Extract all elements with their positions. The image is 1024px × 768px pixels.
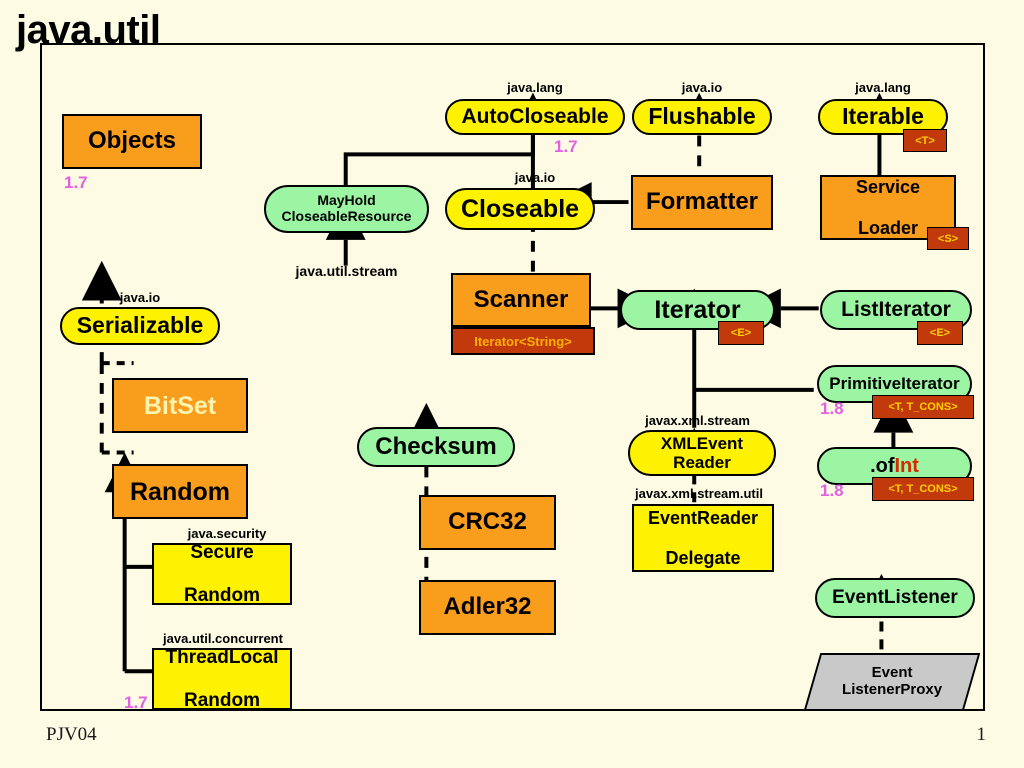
node-ofint-suffix: Int — [895, 455, 919, 477]
version-ofint: 1.8 — [820, 481, 844, 501]
node-scanner[interactable]: Scanner — [451, 273, 591, 327]
generic-badge-iterator: <E> — [718, 321, 764, 345]
package-label-iterable: java.lang — [818, 80, 948, 95]
node-eventreaderdelegate-line2: Delegate — [665, 548, 740, 568]
node-securerandom-line1: Secure — [190, 542, 253, 563]
package-label-autocloseable: java.lang — [445, 80, 625, 95]
node-eventlistenerproxy-line2: ListenerProxy — [842, 681, 942, 698]
node-threadlocalrandom[interactable]: ThreadLocal Random — [152, 648, 292, 710]
package-label-serializable: java.io — [60, 290, 220, 305]
node-mayhold-closeableresource[interactable]: MayHold CloseableResource — [264, 185, 429, 233]
node-crc32[interactable]: CRC32 — [419, 495, 556, 550]
generic-badge-serviceloader: <S> — [927, 227, 969, 250]
generic-badge-listiterator: <E> — [917, 321, 963, 345]
generic-badge-iterable: <T> — [903, 129, 947, 152]
node-bitset[interactable]: BitSet — [112, 378, 248, 433]
node-eventlistener[interactable]: EventListener — [815, 578, 975, 618]
package-label-flushable: java.io — [632, 80, 772, 95]
node-closeable[interactable]: Closeable — [445, 188, 595, 230]
node-threadlocalrandom-line1: ThreadLocal — [166, 647, 279, 668]
node-ofint-prefix: .of — [870, 455, 894, 477]
node-bitset-label: BitSet — [144, 392, 216, 420]
package-label-closeable: java.io — [445, 170, 625, 185]
version-primitiveiterator: 1.8 — [820, 399, 844, 419]
node-serviceloader-line2: Loader — [858, 218, 918, 238]
node-mayhold-line2: CloseableResource — [282, 208, 412, 224]
node-checksum[interactable]: Checksum — [357, 427, 515, 467]
generic-badge-ofint: <T, T_CONS> — [872, 477, 974, 501]
footer-course-code: PJV04 — [46, 724, 97, 746]
package-label-xmleventreader: javax.xml.stream — [620, 413, 775, 428]
package-label-securerandom: java.security — [152, 526, 302, 541]
node-eventreaderdelegate-line1: EventReader — [648, 508, 758, 528]
node-mayhold-line1: MayHold — [317, 192, 375, 208]
generic-badge-primitiveiterator: <T, T_CONS> — [872, 395, 974, 419]
package-label-eventreaderdelegate: javax.xml.stream.util — [610, 486, 788, 501]
node-flushable[interactable]: Flushable — [632, 99, 772, 135]
node-serializable[interactable]: Serializable — [60, 307, 220, 345]
version-threadlocalrandom: 1.7 — [124, 693, 148, 713]
node-objects[interactable]: Objects — [62, 114, 202, 169]
node-xmleventreader-line2: Reader — [673, 453, 731, 472]
page-title: java.util — [16, 8, 160, 53]
node-threadlocalrandom-line2: Random — [184, 690, 260, 711]
footer-page-number: 1 — [977, 724, 987, 746]
node-adler32[interactable]: Adler32 — [419, 580, 556, 635]
node-scanner-generic-bar: Iterator<String> — [451, 327, 595, 355]
node-securerandom[interactable]: Secure Random — [152, 543, 292, 605]
node-autocloseable[interactable]: AutoCloseable — [445, 99, 625, 135]
node-securerandom-line2: Random — [184, 585, 260, 606]
node-formatter[interactable]: Formatter — [631, 175, 773, 230]
node-xmleventreader[interactable]: XMLEvent Reader — [628, 430, 776, 476]
node-serviceloader-line1: Service — [856, 177, 920, 197]
node-eventlistenerproxy[interactable]: Event ListenerProxy — [804, 653, 981, 711]
diagram-canvas: Objects 1.7 MayHold CloseableResource ja… — [40, 43, 985, 711]
package-label-mayhold: java.util.stream — [264, 263, 429, 279]
node-random[interactable]: Random — [112, 464, 248, 519]
node-eventreaderdelegate[interactable]: EventReader Delegate — [632, 504, 774, 572]
node-eventlistenerproxy-line1: Event — [872, 664, 913, 681]
version-autocloseable: 1.7 — [554, 137, 578, 157]
package-label-threadlocalrandom: java.util.concurrent — [148, 631, 298, 646]
version-objects: 1.7 — [64, 173, 88, 193]
node-xmleventreader-line1: XMLEvent — [661, 434, 743, 453]
